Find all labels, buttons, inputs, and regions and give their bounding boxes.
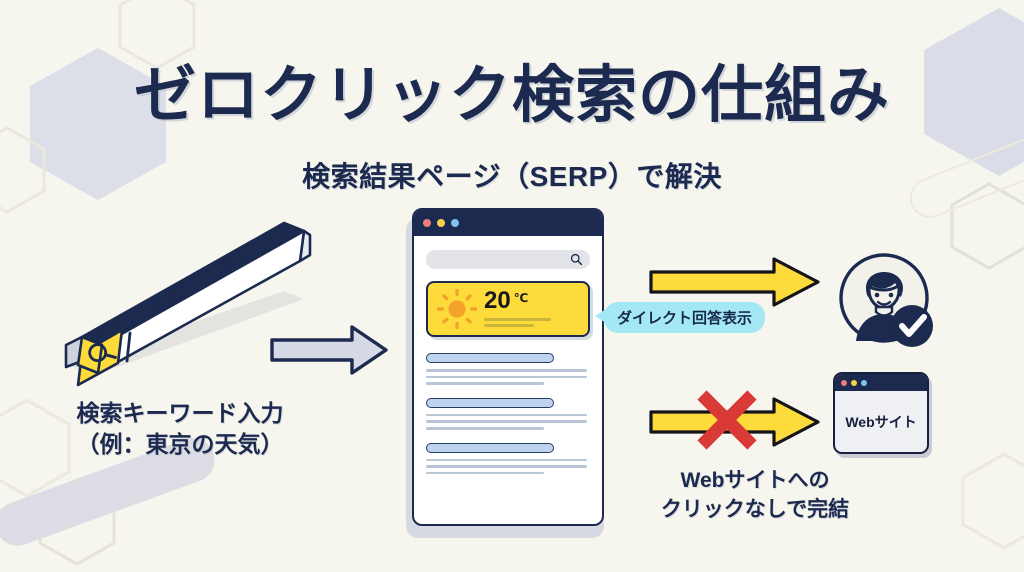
website-title-bar bbox=[835, 374, 927, 391]
cross-icon bbox=[692, 385, 762, 460]
direct-answer-badge: ダイレクト回答表示 bbox=[604, 302, 765, 333]
page-subtitle: 検索結果ページ（SERP）で解決 bbox=[0, 155, 1024, 195]
window-dot-close[interactable] bbox=[423, 219, 431, 227]
search-input-caption: 検索キーワード入力 （例：東京の天気） bbox=[30, 398, 330, 460]
result-line bbox=[426, 382, 544, 385]
flow-arrow-icon bbox=[268, 322, 392, 383]
window-dot-minimize[interactable] bbox=[851, 380, 857, 386]
temperature-unit: ℃ bbox=[514, 291, 529, 305]
placeholder-line bbox=[484, 324, 534, 327]
weather-readout: 20 ℃ bbox=[484, 289, 580, 330]
result-title-placeholder bbox=[426, 443, 554, 453]
infographic-canvas: ゼロクリック検索の仕組み 検索結果ページ（SERP）で解決 bbox=[0, 0, 1024, 572]
search-caption-line-2: （例：東京の天気） bbox=[30, 429, 330, 460]
window-dot-maximize[interactable] bbox=[861, 380, 867, 386]
hexagon-outline-decoration bbox=[960, 452, 1024, 550]
result-line bbox=[426, 459, 587, 462]
direct-answer-weather-card: 20 ℃ bbox=[426, 281, 590, 337]
verified-user-avatar bbox=[836, 250, 938, 357]
website-window: Webサイト bbox=[833, 372, 929, 454]
search-result-item[interactable] bbox=[426, 443, 590, 475]
weather-detail-placeholder bbox=[484, 318, 580, 330]
sun-icon bbox=[436, 288, 478, 330]
temperature-value: 20 bbox=[484, 289, 511, 313]
website-window-body: Webサイト bbox=[833, 372, 929, 454]
result-line bbox=[426, 369, 587, 372]
placeholder-line bbox=[484, 318, 551, 321]
result-line bbox=[426, 427, 544, 430]
blocked-caption-line-2: クリックなしで完結 bbox=[620, 495, 890, 524]
page-title: ゼロクリック検索の仕組み bbox=[0, 44, 1024, 134]
check-icon bbox=[891, 305, 933, 347]
website-label: Webサイト bbox=[835, 391, 927, 452]
browser-title-bar bbox=[414, 210, 602, 236]
result-title-placeholder bbox=[426, 353, 554, 363]
temperature-row: 20 ℃ bbox=[484, 289, 528, 313]
result-line bbox=[426, 420, 587, 423]
result-line bbox=[426, 465, 587, 468]
result-line bbox=[426, 376, 587, 379]
serp-browser-window: 20 ℃ bbox=[406, 208, 604, 528]
result-title-placeholder bbox=[426, 398, 554, 408]
blocked-outcome-caption: Webサイトへの クリックなしで完結 bbox=[620, 466, 890, 525]
result-line bbox=[426, 414, 587, 417]
search-result-item[interactable] bbox=[426, 353, 590, 385]
window-dot-minimize[interactable] bbox=[437, 219, 445, 227]
magnifier-icon bbox=[570, 253, 583, 266]
search-result-item[interactable] bbox=[426, 398, 590, 430]
window-dot-maximize[interactable] bbox=[451, 219, 459, 227]
blocked-caption-line-1: Webサイトへの bbox=[620, 466, 890, 495]
search-caption-line-1: 検索キーワード入力 bbox=[30, 398, 330, 429]
serp-content: 20 ℃ bbox=[414, 236, 602, 474]
window-dot-close[interactable] bbox=[841, 380, 847, 386]
result-line bbox=[426, 472, 544, 475]
browser-window-body: 20 ℃ bbox=[412, 208, 604, 526]
serp-search-input[interactable] bbox=[426, 250, 590, 269]
